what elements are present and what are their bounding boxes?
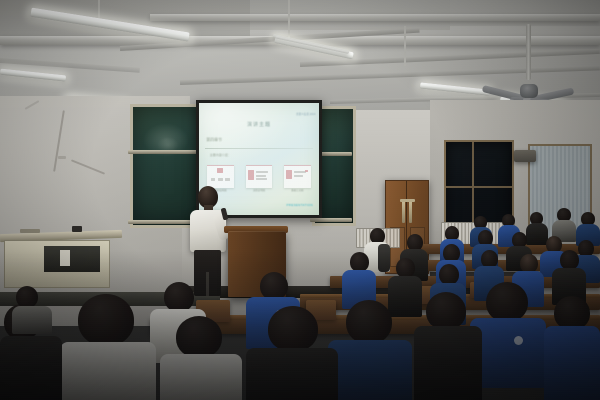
slide-thumbnail-caption: 数据汇总图 xyxy=(284,189,310,193)
slide-corner-note: 主讲人信息 2014 xyxy=(296,113,315,117)
slide-thumbnail xyxy=(207,165,233,188)
audience-member xyxy=(328,300,412,400)
fluorescent-tube xyxy=(0,69,66,82)
audience-member xyxy=(246,306,338,400)
slide-section-header: 第四章节 xyxy=(206,137,222,143)
slide-thumbnail xyxy=(246,165,272,188)
lecture-hall-photo: 演讲主题 主讲人信息 2014 第四章节 主要内容介绍： 组织结构图 流程说明图 xyxy=(0,0,600,400)
audience-member xyxy=(60,294,156,400)
desk-clutter xyxy=(72,226,82,232)
audience-member xyxy=(160,316,242,400)
slide-subhead: 主要内容介绍： xyxy=(210,153,231,157)
ceiling-fan-pole xyxy=(526,24,531,80)
presenter-leg-gap xyxy=(206,272,209,296)
light-rod xyxy=(404,26,406,66)
chalk-rail xyxy=(310,218,352,222)
slide-divider xyxy=(205,148,313,149)
fan-motor xyxy=(520,84,538,98)
chalk-rail xyxy=(128,150,204,154)
door-handle[interactable] xyxy=(402,201,405,223)
slide-thumbnail-caption: 流程说明图 xyxy=(246,189,272,193)
audience-member xyxy=(544,296,600,400)
fluorescent-tube xyxy=(420,82,490,95)
desk-clutter xyxy=(20,229,40,233)
slide-title: 演讲主题 xyxy=(247,121,271,128)
wall-speaker xyxy=(514,150,536,162)
slide-thumbnail xyxy=(284,165,310,188)
slide-logo: PRESENTATION xyxy=(287,203,314,207)
door-handle[interactable] xyxy=(409,201,412,223)
uniform-logo xyxy=(514,336,523,345)
audience-member xyxy=(12,286,52,332)
cabinet-opening xyxy=(44,246,100,272)
audience-member xyxy=(414,292,482,400)
cabinet-item xyxy=(60,250,70,266)
